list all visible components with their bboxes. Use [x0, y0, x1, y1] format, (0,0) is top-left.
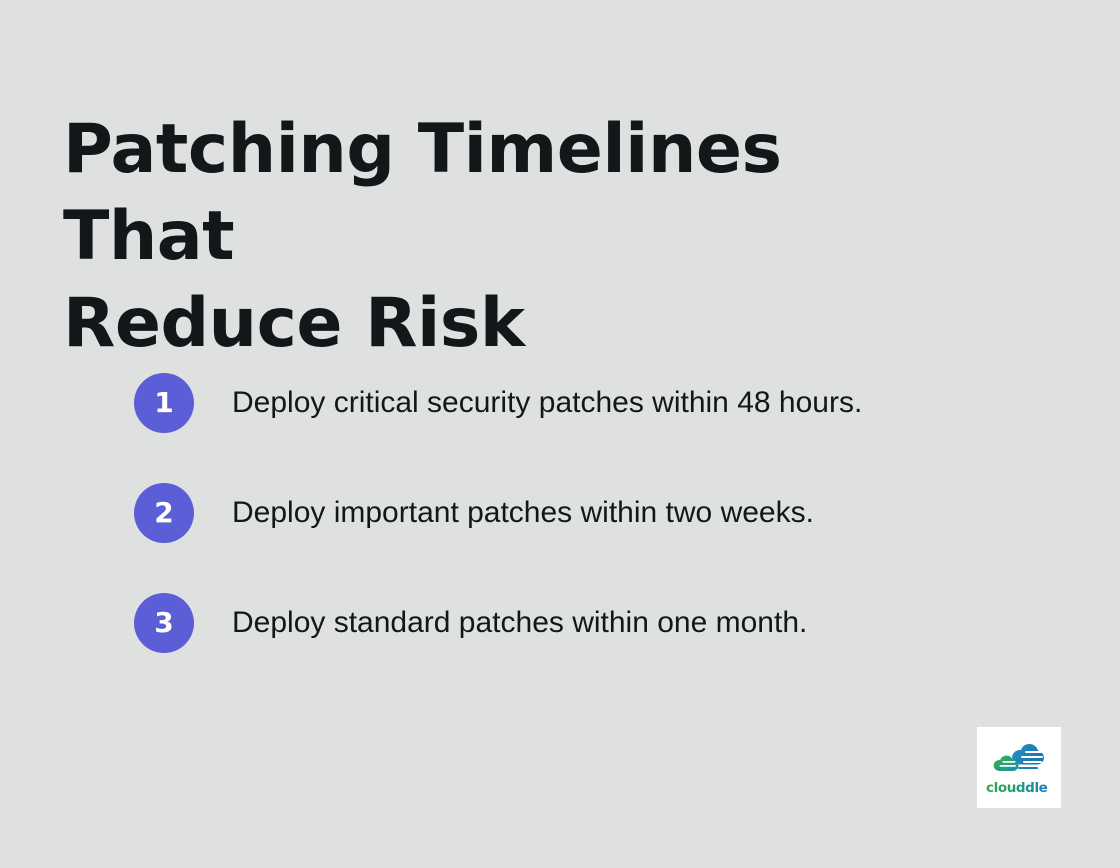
slide-canvas: Patching Timelines That Reduce Risk 1 De… — [0, 0, 1120, 868]
list-item-label: Deploy critical security patches within … — [232, 384, 862, 422]
list-item: 3 Deploy standard patches within one mon… — [134, 593, 1034, 653]
list-item-label: Deploy important patches within two week… — [232, 494, 814, 532]
clouddle-wordmark: clouddle — [986, 779, 1052, 796]
list-number-badge: 3 — [134, 593, 194, 653]
cloud-logo-icon — [990, 741, 1048, 777]
list-item: 2 Deploy important patches within two we… — [134, 483, 1034, 543]
list-number-badge: 2 — [134, 483, 194, 543]
list-item-label: Deploy standard patches within one month… — [232, 604, 807, 642]
list-number-badge: 1 — [134, 373, 194, 433]
page-title: Patching Timelines That Reduce Risk — [63, 106, 923, 367]
clouddle-wordmark-text: clouddle — [986, 780, 1048, 796]
clouddle-logo: clouddle — [977, 727, 1061, 808]
list-item: 1 Deploy critical security patches withi… — [134, 373, 1034, 433]
numbered-list: 1 Deploy critical security patches withi… — [134, 373, 1034, 653]
